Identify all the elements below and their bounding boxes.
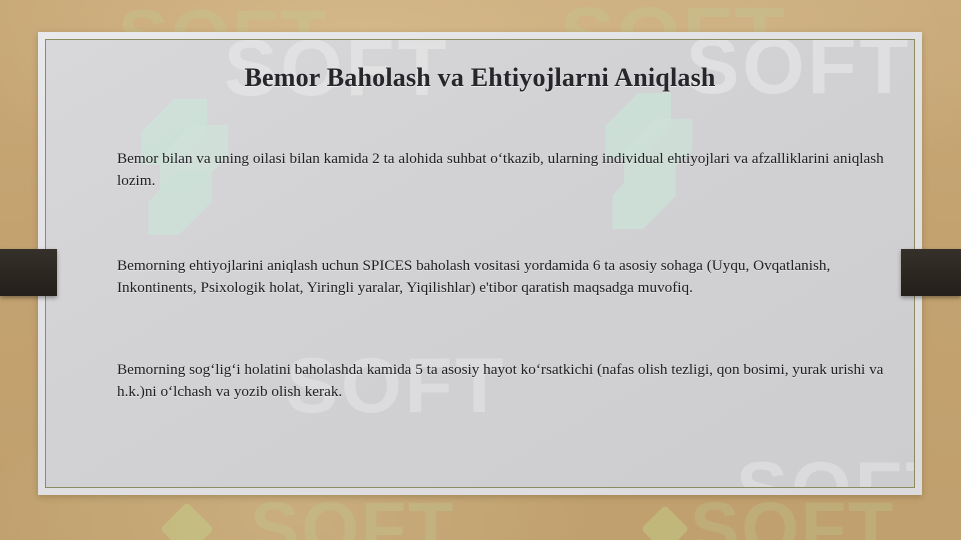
slide-watermark-text-bottom-right: SOFT <box>736 444 914 487</box>
body-paragraph-1: Bemor bilan va uning oilasi bilan kamida… <box>117 148 884 191</box>
backdrop-diamond-shape-left <box>160 502 214 540</box>
body-paragraph-3: Bemorning sogʻligʻi holatini baholashda … <box>117 359 884 402</box>
backdrop-diamond-shape-right <box>641 505 689 540</box>
slide-title: Bemor Baholash va Ehtiyojlarni Aniqlash <box>46 63 914 93</box>
decorative-bar-left <box>0 249 57 296</box>
slide-body: Bemor bilan va uning oilasi bilan kamida… <box>117 148 884 402</box>
body-paragraph-2: Bemorning ehtiyojlarini aniqlash uchun S… <box>117 255 884 298</box>
slide-screenshot: SOFT SOFT SOFT SOFT <box>0 0 961 540</box>
slide-surface: SOFT SOFT SOFT SOFT Bemor Baholash va Eh… <box>46 40 914 487</box>
slide-panel: SOFT SOFT SOFT SOFT Bemor Baholash va Eh… <box>38 32 922 495</box>
decorative-bar-right <box>901 249 961 296</box>
